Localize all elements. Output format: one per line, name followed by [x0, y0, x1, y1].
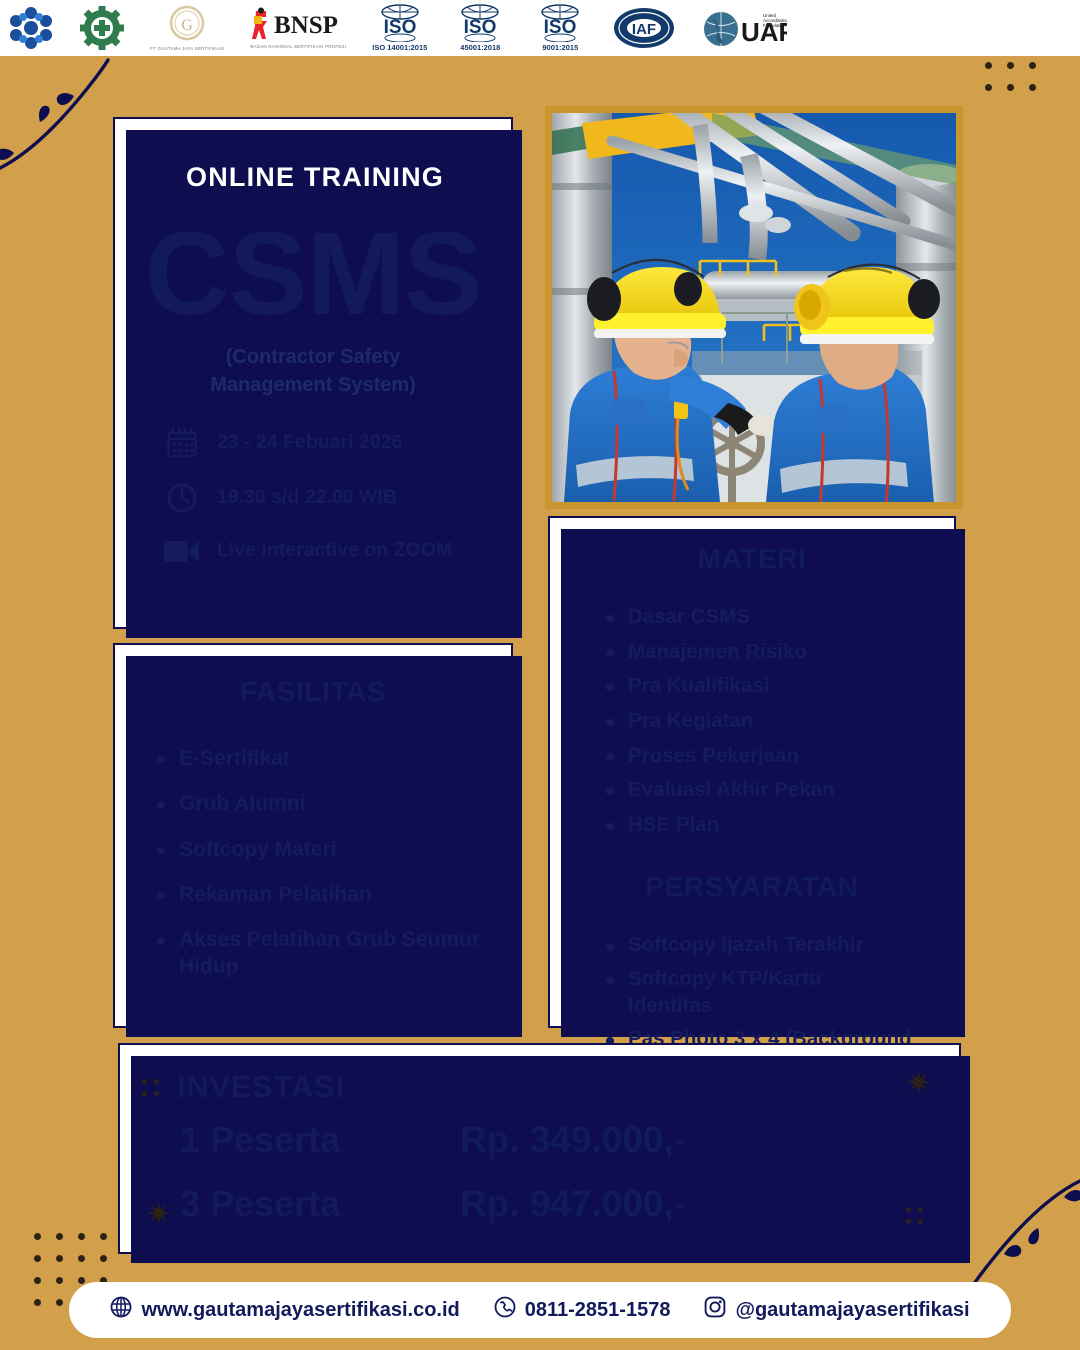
gautama-jaya-logo — [8, 6, 54, 50]
event-time: 19.30 s/d 22.00 WIB — [217, 485, 397, 510]
list-item: Softcopy Materi — [153, 836, 511, 863]
fasilitas-card: FASILITAS E-Sertifikat Grub Alumni Softc… — [113, 643, 513, 1028]
event-date-row: 23 - 24 Febuari 2026 — [163, 426, 511, 460]
list-item: Pra Kualifikasi — [602, 673, 954, 700]
price-row-1: 1 Peserta Rp. 349.000,- — [180, 1111, 959, 1169]
vine-decoration-bottom-right — [954, 1173, 1080, 1298]
iaf-logo: IAF — [613, 7, 675, 49]
list-item: Softcopy KTP/Kartu Identitas — [602, 966, 954, 1019]
event-time-row: 19.30 s/d 22.00 WIB — [163, 481, 511, 515]
video-camera-icon — [163, 536, 201, 566]
online-training-banner: ONLINE TRAINING — [150, 152, 480, 204]
dot-cluster-icon-bottom-right — [906, 1207, 923, 1224]
iso-9001-caption: 9001:2015 — [542, 43, 578, 52]
investasi-heading: INVESTASI — [177, 1069, 345, 1105]
list-item: Evaluasi Akhir Pekan — [602, 777, 954, 804]
iso-14001-caption: ISO 14001:2015 — [372, 43, 427, 52]
footer-website[interactable]: www.gautamajayasertifikasi.co.id — [110, 1296, 459, 1324]
training-photo — [545, 106, 963, 509]
company-seal-logo: G PT GAUTAMA JAYA SERTIFIKASI — [150, 5, 224, 51]
footer-instagram[interactable]: @gautamajayasertifikasi — [704, 1296, 969, 1324]
subtitle-line-1: (Contractor Safety — [115, 343, 511, 371]
price-label: 3 Peserta — [180, 1183, 380, 1225]
investasi-title-row: INVESTASI — [142, 1069, 959, 1105]
iso-45001-logo: ISO 45001:2018 — [453, 4, 507, 52]
calendar-icon — [163, 426, 201, 460]
price-label: 1 Peserta — [180, 1119, 380, 1161]
bnsp-caption: BADAN NASIONAL SERTIFIKASI PROFESI — [250, 44, 346, 49]
iso-45001-caption: 45001:2018 — [460, 43, 500, 52]
page-title: CSMS — [115, 212, 511, 337]
svg-text:ISO: ISO — [383, 17, 416, 38]
footer-phone[interactable]: 0811-2851-1578 — [494, 1296, 671, 1324]
persyaratan-heading: PERSYARATAN — [597, 862, 906, 912]
subtitle-line-2: Management System) — [115, 371, 511, 399]
list-item: Pra Kegiatan — [602, 708, 954, 735]
iso-9001-logo: ISO 9001:2015 — [533, 4, 587, 52]
instagram-text: @gautamajayasertifikasi — [735, 1299, 969, 1322]
list-item: Dasar CSMS — [602, 604, 954, 631]
k3-gear-logo — [80, 6, 124, 50]
materi-list: Dasar CSMS Manajemen Risiko Pra Kualifik… — [602, 604, 954, 838]
contact-footer: www.gautamajayasertifikasi.co.id 0811-28… — [69, 1282, 1011, 1338]
accreditation-logo-bar: G PT GAUTAMA JAYA SERTIFIKASI BNSP BADAN… — [0, 0, 1080, 56]
materi-persyaratan-card: MATERI Dasar CSMS Manajemen Risiko Pra K… — [548, 516, 956, 1028]
list-item: Proses Pekerjaan — [602, 743, 954, 770]
phone-text: 0811-2851-1578 — [525, 1299, 671, 1322]
dot-cluster-icon — [142, 1079, 159, 1096]
bnsp-logo: BNSP BADAN NASIONAL SERTIFIKASI PROFESI — [250, 7, 346, 49]
svg-text:ISO: ISO — [544, 17, 577, 38]
list-item: E-Sertifikat — [153, 745, 511, 772]
fasilitas-heading: FASILITAS — [192, 667, 434, 717]
svg-text:IAF: IAF — [632, 21, 656, 38]
price-row-2: 3 Peserta Rp. 947.000,- — [180, 1175, 959, 1233]
list-item: Rekaman Pelatihan — [153, 881, 511, 908]
list-item: Grub Alumni — [153, 790, 511, 817]
event-date: 23 - 24 Febuari 2026 — [217, 430, 402, 455]
asterisk-icon-left: ✷ — [146, 1200, 171, 1230]
dot-grid-top-right — [985, 62, 1036, 91]
company-seal-caption: PT GAUTAMA JAYA SERTIFIKASI — [150, 46, 224, 51]
title-subtitle: (Contractor Safety Management System) — [115, 343, 511, 400]
hero-card: ONLINE TRAINING CSMS (Contractor Safety … — [113, 117, 513, 629]
instagram-icon — [704, 1296, 726, 1324]
list-item: Manajemen Risiko — [602, 639, 954, 666]
list-item: Softcopy Ijazah Terakhir — [602, 932, 954, 959]
uaf-logo: UAF United Accreditation Foundation — [701, 8, 787, 48]
phone-icon — [494, 1296, 516, 1324]
svg-text:Foundation: Foundation — [763, 23, 786, 28]
materi-heading: MATERI — [650, 534, 855, 584]
vine-decoration-top-left — [0, 52, 124, 177]
iso-14001-logo: ISO ISO 14001:2015 — [372, 4, 427, 52]
event-info-list: 23 - 24 Febuari 2026 19.30 s/d 22.00 WIB… — [163, 426, 511, 566]
investasi-card: INVESTASI 1 Peserta Rp. 349.000,- 3 Pese… — [118, 1043, 961, 1254]
svg-text:BNSP: BNSP — [274, 12, 338, 39]
list-item: HSE Plan — [602, 812, 954, 839]
price-value: Rp. 947.000,- — [408, 1175, 738, 1233]
svg-text:ISO: ISO — [464, 17, 497, 38]
list-item: Akses Pelatihan Grub Seumur Hidup — [153, 926, 511, 981]
event-platform-row: Live Interactive on ZOOM — [163, 536, 511, 566]
website-text: www.gautamajayasertifikasi.co.id — [141, 1299, 459, 1322]
fasilitas-list: E-Sertifikat Grub Alumni Softcopy Materi… — [153, 745, 511, 981]
price-value: Rp. 349.000,- — [408, 1111, 738, 1169]
svg-text:G: G — [181, 17, 193, 34]
globe-icon — [110, 1296, 132, 1324]
clock-icon — [163, 481, 201, 515]
asterisk-icon-right: ✷ — [906, 1069, 931, 1099]
event-platform: Live Interactive on ZOOM — [217, 538, 452, 563]
